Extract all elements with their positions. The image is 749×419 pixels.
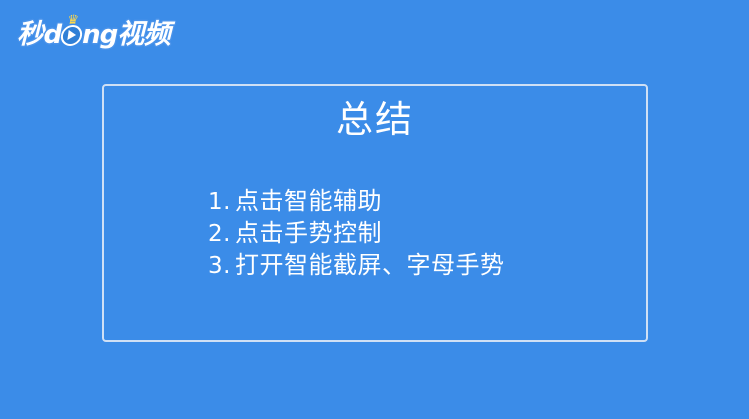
crown-icon: ♛ [67, 16, 81, 25]
list-item-label: 点击手势控制 [235, 218, 382, 249]
brand-logo-latin-before: d [44, 19, 62, 51]
content-frame: 总结 1. 点击智能辅助 2. 点击手势控制 3. 打开智能截屏、字母手势 [102, 84, 648, 342]
page-title: 总结 [104, 98, 646, 142]
summary-list: 1. 点击智能辅助 2. 点击手势控制 3. 打开智能截屏、字母手势 [208, 186, 505, 282]
list-item-label: 点击智能辅助 [235, 186, 382, 217]
brand-logo-suffix: 视频 [117, 19, 170, 51]
video-slide: 秒d♛ng视频 总结 1. 点击智能辅助 2. 点击手势控制 3. 打开智能截屏… [0, 0, 749, 419]
list-item: 2. 点击手势控制 [208, 218, 505, 250]
list-item-label: 打开智能截屏、字母手势 [235, 250, 505, 281]
brand-logo-latin-after: ng [82, 19, 117, 51]
brand-logo-prefix: 秒 [17, 19, 44, 51]
list-item: 1. 点击智能辅助 [208, 186, 505, 218]
list-item: 3. 打开智能截屏、字母手势 [208, 250, 505, 282]
play-triangle-icon [67, 30, 76, 40]
list-item-index: 1. [208, 187, 235, 218]
list-item-index: 3. [208, 251, 235, 282]
brand-logo: 秒d♛ng视频 [17, 19, 170, 51]
list-item-index: 2. [208, 219, 235, 250]
play-circle-icon: ♛ [60, 25, 84, 46]
